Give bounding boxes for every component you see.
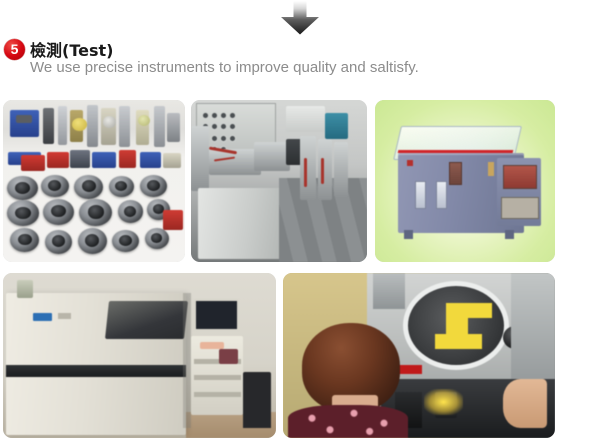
photo-projector[interactable] (283, 273, 555, 438)
photo-assembly[interactable] (191, 100, 367, 262)
photo-saltspray-image (375, 100, 555, 262)
photo-gauges-image (3, 100, 185, 262)
photo-gauges[interactable] (3, 100, 185, 262)
photo-gallery (0, 0, 600, 441)
photo-cmm[interactable] (3, 273, 276, 438)
photo-cmm-image (3, 273, 276, 438)
photo-assembly-image (191, 100, 367, 262)
photo-projector-image (283, 273, 555, 438)
photo-saltspray[interactable] (375, 100, 555, 262)
